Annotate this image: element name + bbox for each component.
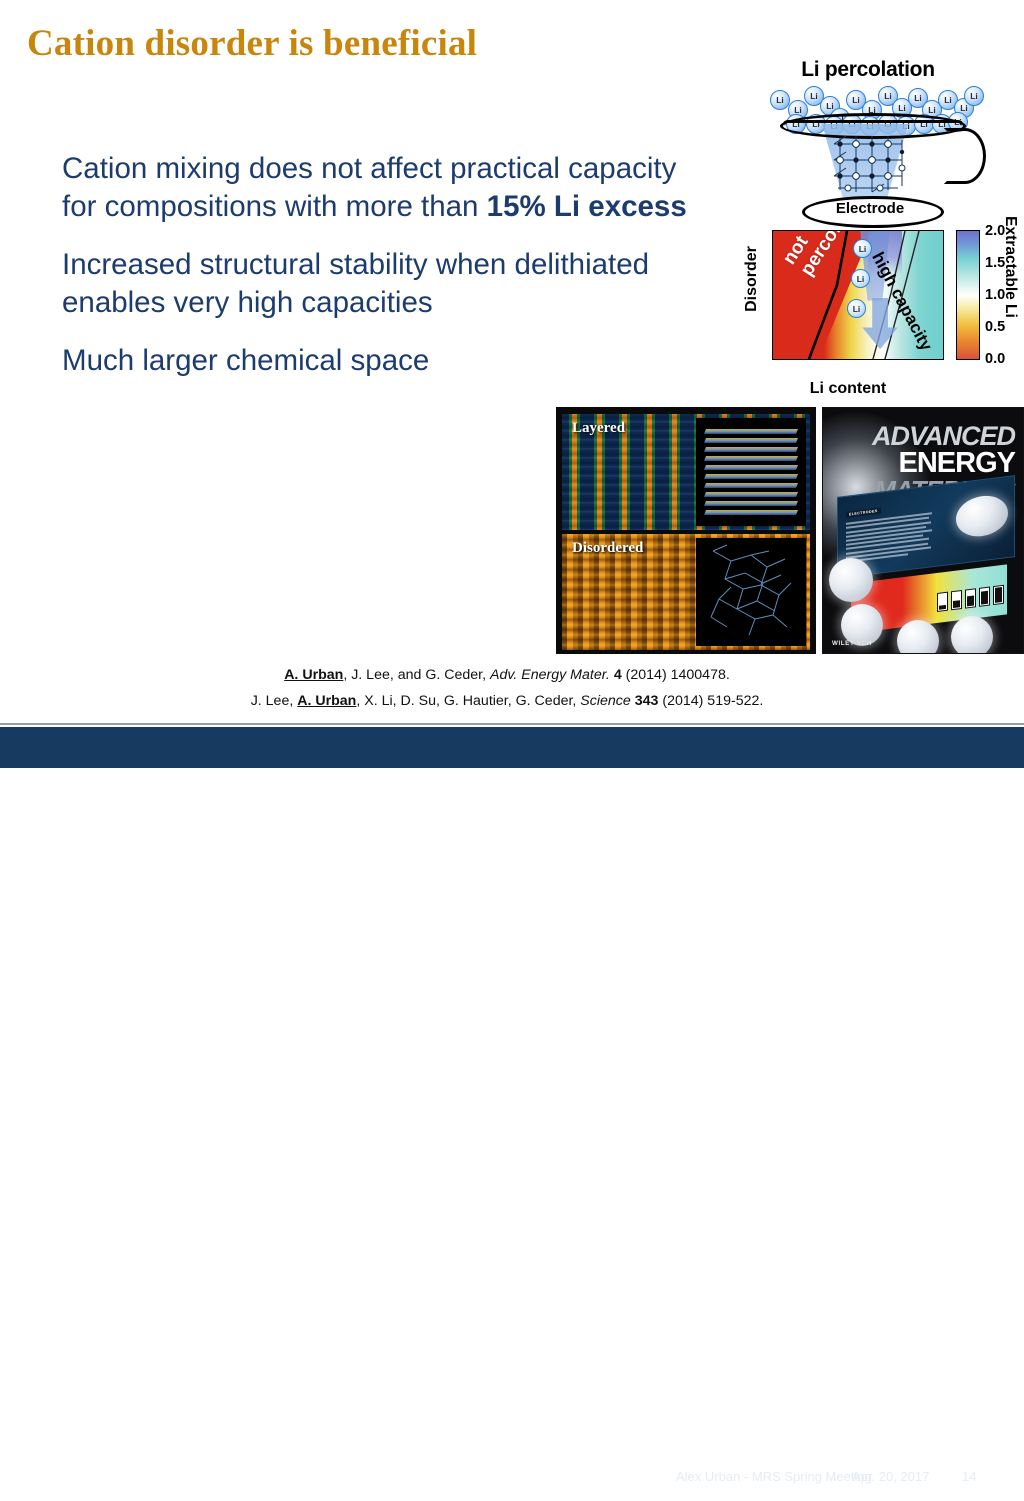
chart-x-tick: 0.8 bbox=[805, 359, 825, 360]
footer-date: Apr. 20, 2017 bbox=[852, 1469, 929, 1484]
chart-y-tick: 80 bbox=[772, 249, 773, 265]
chart-li-ion: Li bbox=[853, 239, 872, 258]
colorbar-tick: 1.0 bbox=[979, 287, 1005, 303]
micrograph-panel-layered: Layered bbox=[562, 414, 810, 530]
colorbar-tick: 1.5 bbox=[979, 255, 1005, 271]
paragraph-1-emphasis: 15% Li excess bbox=[487, 190, 687, 223]
colorbar-tick: 0.5 bbox=[979, 319, 1005, 335]
phase-diagram-figure: Disorder Li content Extractable Li not p… bbox=[728, 222, 1024, 400]
chart-colorbar: 2.0 1.5 1.0 0.5 0.0 bbox=[956, 230, 980, 360]
berkeley-logo: Berkeley UNIVERSITY OF CALIFORNIA bbox=[10, 1457, 185, 1495]
footer-presenter: Alex Urban - MRS Spring Meeting bbox=[676, 1469, 872, 1484]
chart-x-tick: 1.4 bbox=[933, 359, 944, 360]
percolation-network-icon bbox=[697, 539, 805, 645]
citation-1-author: A. Urban bbox=[284, 667, 343, 683]
body-paragraph-1: Cation mixing does not affect practical … bbox=[62, 150, 712, 226]
citation-1: A. Urban, J. Lee, and G. Ceder, Adv. Ene… bbox=[0, 662, 1014, 688]
cover-abstract-heading: ELECTRODES bbox=[846, 508, 881, 518]
micrograph-panel-disordered: Disordered bbox=[562, 534, 810, 650]
citation-1-volume: 4 bbox=[614, 667, 622, 683]
body-paragraph-2: Increased structural stability when deli… bbox=[62, 246, 712, 322]
chart-y-tick: 40 bbox=[772, 300, 773, 316]
micrograph-label-layered: Layered bbox=[572, 420, 625, 437]
citation-2-author: A. Urban bbox=[297, 693, 356, 709]
chart-y-tick: 20 bbox=[772, 325, 773, 341]
chart-x-axis-label: Li content bbox=[748, 380, 948, 398]
colorbar-tick: 2.0 bbox=[979, 223, 1005, 239]
slide-canvas: Cation disorder is beneficial Cation mix… bbox=[0, 0, 1024, 768]
chart-li-ion: Li bbox=[847, 299, 866, 318]
footer-divider bbox=[0, 723, 1024, 725]
electrode-label: Electrode bbox=[802, 200, 938, 217]
chart-plot-area: not percolating high capacity Li Li Li 1… bbox=[772, 230, 944, 360]
citations: A. Urban, J. Lee, and G. Ceder, Adv. Ene… bbox=[0, 662, 1014, 714]
li-ion: Li bbox=[770, 90, 790, 110]
citation-1-journal: Adv. Energy Mater. bbox=[490, 667, 610, 683]
citation-2-journal: Science bbox=[580, 693, 630, 709]
crystal-lattice-icon bbox=[824, 130, 916, 196]
citation-2-pages: (2014) 519-522. bbox=[658, 693, 763, 709]
citation-2-lead-author: J. Lee, bbox=[251, 693, 298, 709]
cover-molecule-icon bbox=[897, 620, 939, 654]
footer-page-number: 14 bbox=[962, 1469, 976, 1484]
chart-x-tick: 1.0 bbox=[848, 359, 868, 360]
citation-1-coauthors: , J. Lee, and G. Ceder, bbox=[343, 667, 490, 683]
micrograph-label-disordered: Disordered bbox=[572, 540, 643, 557]
citation-2-coauthors: , X. Li, D. Su, G. Hautier, G. Ceder, bbox=[356, 693, 580, 709]
cover-molecule-icon bbox=[956, 493, 1008, 539]
journal-cover-image: ADVANCED ENERGY MATERIALS ELECTRODES bbox=[822, 407, 1024, 654]
chart-x-tick: 1.2 bbox=[890, 359, 910, 360]
colorbar-tick: 0.0 bbox=[979, 351, 1005, 367]
chart-x-tick: 0.6 bbox=[772, 359, 783, 360]
chart-y-tick: 60 bbox=[772, 274, 773, 290]
citation-2-volume: 343 bbox=[635, 693, 659, 709]
chart-y-axis-label: Disorder bbox=[743, 219, 761, 339]
funnel-body: Electrode bbox=[776, 120, 984, 228]
slide-footer: Berkeley UNIVERSITY OF CALIFORNIA Alex U… bbox=[0, 727, 1024, 768]
li-ion: Li bbox=[964, 86, 984, 106]
micrograph-figure: Layered Disordered bbox=[556, 407, 816, 654]
body-paragraph-3: Much larger chemical space bbox=[62, 342, 712, 380]
cover-abstract-text: ELECTRODES bbox=[846, 492, 932, 565]
citation-2: J. Lee, A. Urban, X. Li, D. Su, G. Hauti… bbox=[0, 688, 1014, 714]
chart-y-tick: 100 bbox=[772, 230, 773, 239]
li-percolation-figure: Li percolation LiLiLiLiLiLiLiLiLiLiLiLiL… bbox=[768, 58, 1024, 230]
journal-publisher: WILEY-VCH bbox=[832, 640, 872, 647]
chart-li-ion: Li bbox=[851, 269, 870, 288]
layered-structure-inset bbox=[696, 418, 806, 526]
cover-molecule-icon bbox=[829, 558, 873, 602]
citation-1-pages: (2014) 1400478. bbox=[622, 667, 730, 683]
li-percolation-title: Li percolation bbox=[768, 58, 968, 82]
journal-title-line-2: ENERGY bbox=[872, 450, 1015, 478]
body-text-column: Cation mixing does not affect practical … bbox=[62, 150, 712, 400]
cover-molecule-icon bbox=[951, 616, 993, 654]
funnel-handle bbox=[944, 128, 986, 184]
page-title: Cation disorder is beneficial bbox=[27, 22, 477, 65]
disordered-structure-inset bbox=[696, 538, 806, 646]
